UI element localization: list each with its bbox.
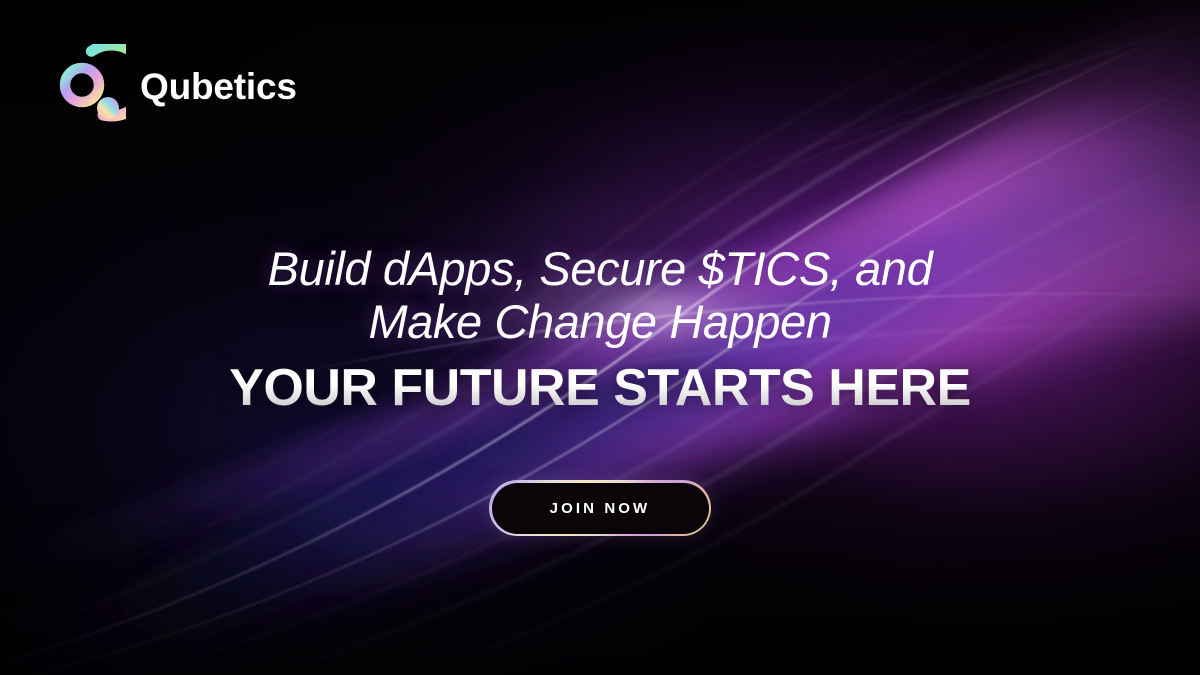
hero-tagline: Build dApps, Secure $TICS, and Make Chan… (0, 243, 1200, 348)
hero-content: Build dApps, Secure $TICS, and Make Chan… (0, 243, 1200, 414)
hero-tagline-line-1: Build dApps, Secure $TICS, and (0, 243, 1200, 296)
hero-headline: YOUR FUTURE STARTS HERE (0, 362, 1200, 414)
qubetics-ring-logo-icon (42, 44, 126, 128)
cta-container: JOIN NOW (0, 480, 1200, 536)
hero-tagline-line-2: Make Change Happen (0, 296, 1200, 349)
brand-logo[interactable]: Qubetics (42, 44, 297, 128)
join-now-label: JOIN NOW (550, 500, 651, 517)
brand-name: Qubetics (140, 68, 297, 105)
join-now-button[interactable]: JOIN NOW (489, 480, 711, 536)
hero-banner: Qubetics Build dApps, Secure $TICS, and … (0, 0, 1200, 675)
